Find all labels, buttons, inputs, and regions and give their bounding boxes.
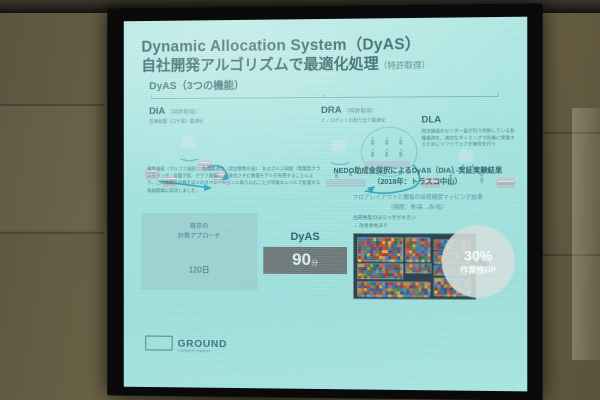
stat-existing-number: 120	[189, 265, 202, 274]
heatmap-caption-line2: → 改善余地あり	[353, 223, 416, 231]
column-patent-dia: （特許取得）	[167, 110, 199, 116]
stat-dyas: DyAS 90分	[263, 231, 347, 274]
column-header-dia: DIA （特許取得）	[149, 106, 200, 117]
technology-paragraph: 確率過程（マルコフ過程）、数理最適化（混合整数計画）、および人工知能（階層型クラ…	[147, 165, 321, 194]
column-code-dla: DLA	[421, 114, 441, 125]
ground-logo-tagline: intelligent logistics	[178, 349, 211, 353]
nedo-subline-line1: フロアレイアウトと棚毎の出荷頻度マッピング結果	[319, 194, 517, 202]
stat-dyas-unit: 分	[311, 260, 318, 267]
column-header-dla: DLA	[421, 114, 441, 125]
presentation-slide: Dynamic Allocation System（DyAS） 自社開発アルゴリ…	[124, 17, 527, 392]
column-desc-dra: 人・ロボットの割り当て最適化	[321, 117, 472, 124]
ground-logo: GROUND intelligent logistics	[145, 336, 227, 352]
slide-title-ja-main: 自社開発アルゴリズムで最適化処理	[141, 55, 378, 74]
column-desc-dia: 在庫配置（ロケ案）最適化	[149, 118, 297, 125]
door-frame	[572, 108, 600, 360]
column-divider	[151, 96, 499, 99]
result-badge-label: 作業性UP	[460, 265, 496, 276]
column-desc-dla: 物流施設のセンター長が日々判断している各種業務を、適切なタイミングで的確に実施す…	[421, 128, 519, 149]
stat-dyas-bar: 90分	[263, 247, 347, 274]
stat-dyas-label: DyAS	[263, 231, 347, 243]
result-badge: 30% 作業性UP	[442, 225, 515, 298]
column-code-dra: DRA	[321, 105, 341, 116]
wall-seam-left-2	[0, 232, 104, 234]
projector-room-scene: Dynamic Allocation System（DyAS） 自社開発アルゴリ…	[0, 0, 600, 400]
nedo-result-block: NEDO助成金採択によるDyAS（DIA）実証実験結果 （2018年：トラスコ中…	[319, 165, 517, 213]
column-header-dra: DRA （特許取得）	[321, 105, 377, 116]
slide-subtitle: DyAS（3つの機能）	[149, 78, 244, 94]
nedo-headline-line2: （2018年：トラスコ中山）	[319, 176, 517, 187]
column-patent-dra: （特許取得）	[344, 109, 377, 115]
nedo-subline-line2: （頻度：青/高→赤/低）	[319, 204, 517, 213]
column-code-dia: DIA	[149, 106, 165, 117]
stat-existing-unit: 日	[202, 265, 210, 274]
result-badge-percent: 30%	[464, 247, 493, 263]
stat-existing-caption-line1: 既存の	[141, 222, 257, 232]
slide-title-ja: 自社開発アルゴリズムで最適化処理（特許取得）	[141, 52, 430, 75]
ground-logo-mark	[145, 336, 172, 351]
stat-existing-caption-line2: 計算アプローチ	[141, 232, 257, 242]
stat-dyas-number: 90	[292, 250, 311, 269]
heatmap-caption-line1: 出荷頻度のばらつきが大きい	[353, 215, 416, 223]
stat-existing-approach: 既存の 計算アプローチ 120日	[141, 213, 257, 291]
nedo-headline-line1: NEDO助成金採択によるDyAS（DIA）実証実験結果	[319, 165, 517, 177]
heatmap-caption: 出荷頻度のばらつきが大きい → 改善余地あり	[353, 215, 416, 231]
stat-existing-value: 120日	[141, 250, 257, 279]
wall-panel-left	[0, 106, 96, 230]
projection-screen-frame: Dynamic Allocation System（DyAS） 自社開発アルゴリ…	[107, 3, 542, 400]
slide-title-ja-note: （特許取得）	[379, 60, 430, 70]
